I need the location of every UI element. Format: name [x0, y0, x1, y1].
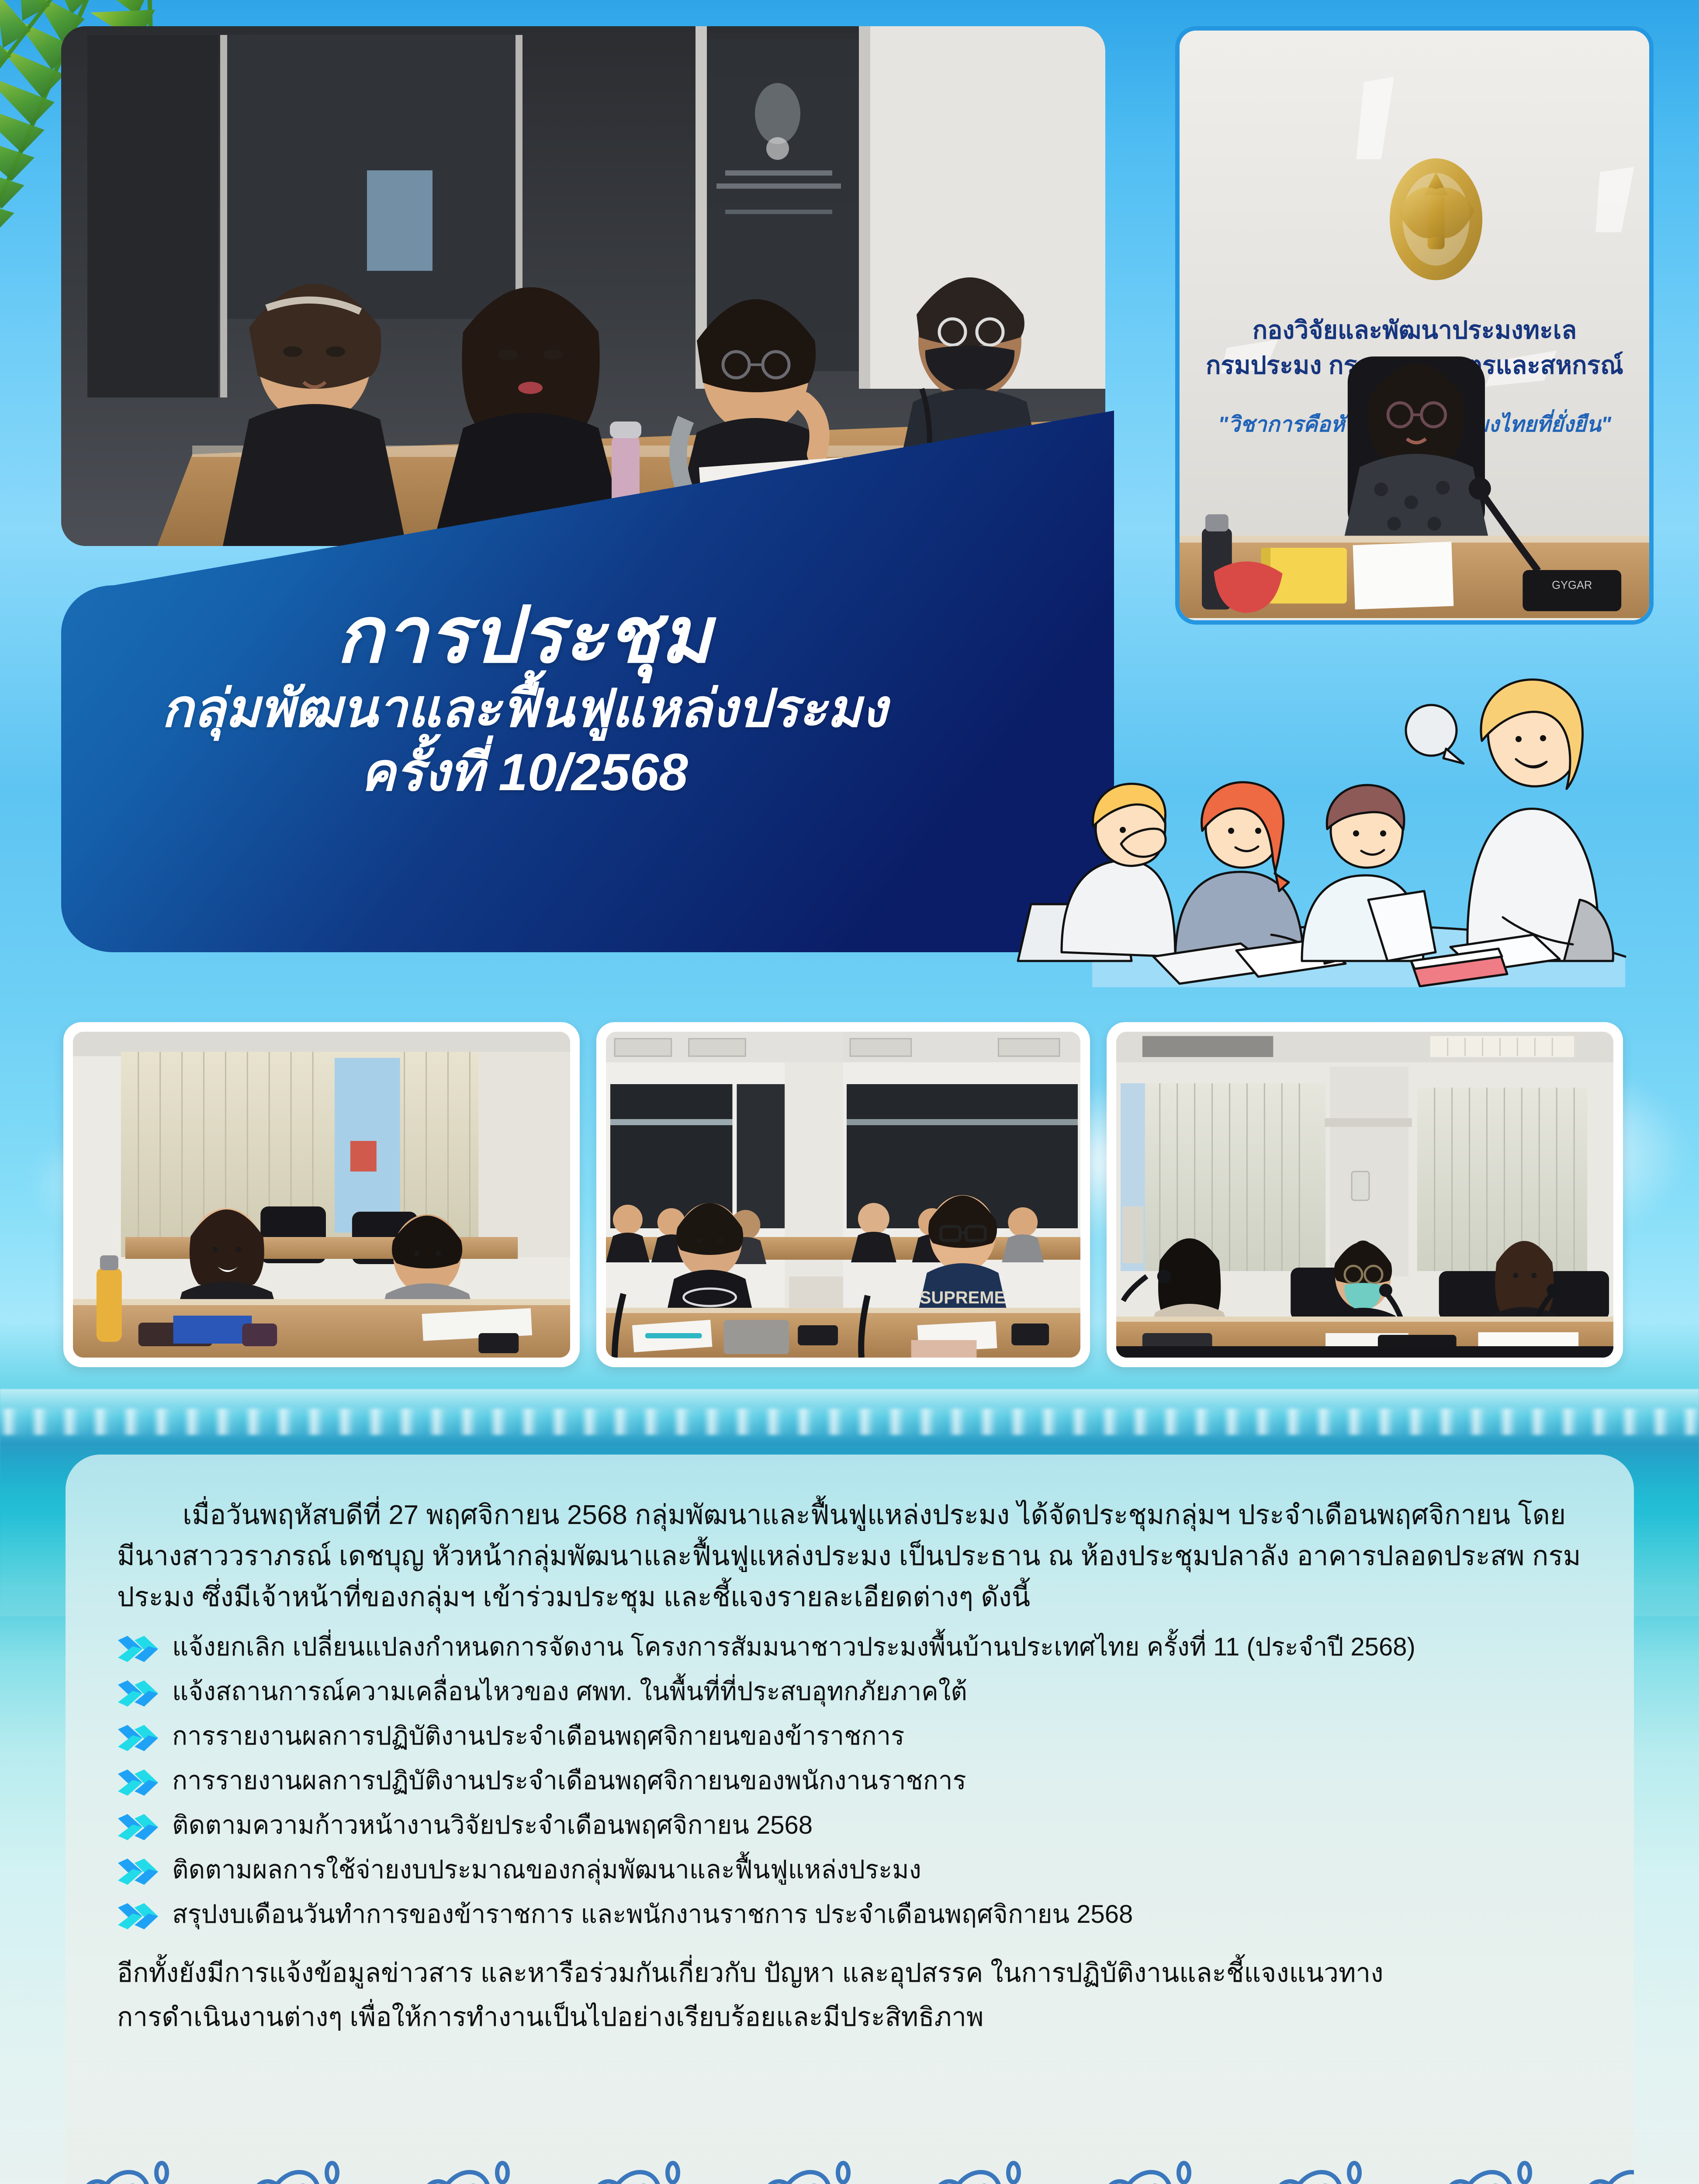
list-item-label: การรายงานผลการปฏิบัติงานประจำเดือนพฤศจิก… — [172, 1720, 904, 1752]
double-chevron-icon — [117, 1679, 159, 1710]
wave-pattern-decoration — [66, 2145, 1634, 2184]
svg-text:SUPREME: SUPREME — [920, 1288, 1006, 1307]
double-chevron-icon — [117, 1769, 159, 1799]
closing-line-1: อีกทั้งยังมีการแจ้งข้อมูลข่าวสาร และหารื… — [117, 1953, 1582, 1993]
poster-title-line1: การประชุม — [61, 594, 987, 677]
list-item: การรายงานผลการปฏิบัติงานประจำเดือนพฤศจิก… — [117, 1720, 1582, 1755]
gallery-photo-1 — [63, 1022, 580, 1367]
closing-line-2: การดำเนินงานต่างๆ เพื่อให้การทำงานเป็นไป… — [117, 1997, 1582, 2037]
title-block: การประชุม กลุ่มพัฒนาและฟื้นฟูแหล่งประมง … — [61, 594, 987, 804]
list-item: แจ้งสถานการณ์ความเคลื่อนไหวของ ศพท. ในพื… — [117, 1675, 1582, 1710]
content-card: เมื่อวันพฤหัสบดีที่ 27 พฤศจิกายน 2568 กล… — [66, 1455, 1634, 2184]
double-chevron-icon — [117, 1902, 159, 1933]
sea-foam-line — [0, 1409, 1699, 1435]
list-item-label: ติดตามผลการใช้จ่ายงบประมาณของกลุ่มพัฒนาแ… — [172, 1853, 921, 1886]
list-item: การรายงานผลการปฏิบัติงานประจำเดือนพฤศจิก… — [117, 1764, 1582, 1799]
list-item: แจ้งยกเลิก เปลี่ยนแปลงกำหนดการจัดงาน โคร… — [117, 1631, 1582, 1666]
intro-paragraph: เมื่อวันพฤหัสบดีที่ 27 พฤศจิกายน 2568 กล… — [117, 1495, 1582, 1618]
list-item: ติดตามความก้าวหน้างานวิจัยประจำเดือนพฤศจ… — [117, 1809, 1582, 1844]
list-item-label: แจ้งยกเลิก เปลี่ยนแปลงกำหนดการจัดงาน โคร… — [172, 1631, 1415, 1663]
double-chevron-icon — [117, 1858, 159, 1888]
poster-title-line3: ครั้งที่ 10/2568 — [61, 740, 987, 804]
double-chevron-icon — [117, 1813, 159, 1844]
list-item: สรุปงบเดือนวันทำการของข้าราชการ และพนักง… — [117, 1898, 1582, 1933]
poster-title-line2: กลุ่มพัฒนาและฟื้นฟูแหล่งประมง — [61, 677, 987, 740]
svg-text:GYGAR: GYGAR — [1552, 579, 1592, 591]
poster-canvas: กองวิจัยและพัฒนาประมงทะเล กรมประมง กระทร… — [0, 0, 1699, 2184]
agenda-list: แจ้งยกเลิก เปลี่ยนแปลงกำหนดการจัดงาน โคร… — [117, 1631, 1582, 1933]
double-chevron-icon — [117, 1724, 159, 1755]
list-item-label: สรุปงบเดือนวันทำการของข้าราชการ และพนักง… — [172, 1898, 1133, 1931]
list-item-label: ติดตามความก้าวหน้างานวิจัยประจำเดือนพฤศจ… — [172, 1809, 813, 1842]
wall-sign-line1: กองวิจัยและพัฒนาประมงทะเล — [1253, 316, 1577, 344]
photo-gallery: SUPREME — [63, 1022, 1636, 1372]
hero-meeting-photo — [61, 26, 1105, 546]
list-item-label: แจ้งสถานการณ์ความเคลื่อนไหวของ ศพท. ในพื… — [172, 1675, 967, 1708]
gallery-photo-2: SUPREME — [596, 1022, 1090, 1367]
team-meeting-illustration — [1014, 655, 1647, 987]
gallery-photo-3 — [1107, 1022, 1623, 1367]
chairperson-photo: กองวิจัยและพัฒนาประมงทะเล กรมประมง กระทร… — [1175, 26, 1654, 625]
list-item: ติดตามผลการใช้จ่ายงบประมาณของกลุ่มพัฒนาแ… — [117, 1853, 1582, 1888]
closing-block: อีกทั้งยังมีการแจ้งข้อมูลข่าวสาร และหารื… — [117, 1953, 1582, 2037]
list-item-label: การรายงานผลการปฏิบัติงานประจำเดือนพฤศจิก… — [172, 1764, 966, 1797]
double-chevron-icon — [117, 1635, 159, 1666]
